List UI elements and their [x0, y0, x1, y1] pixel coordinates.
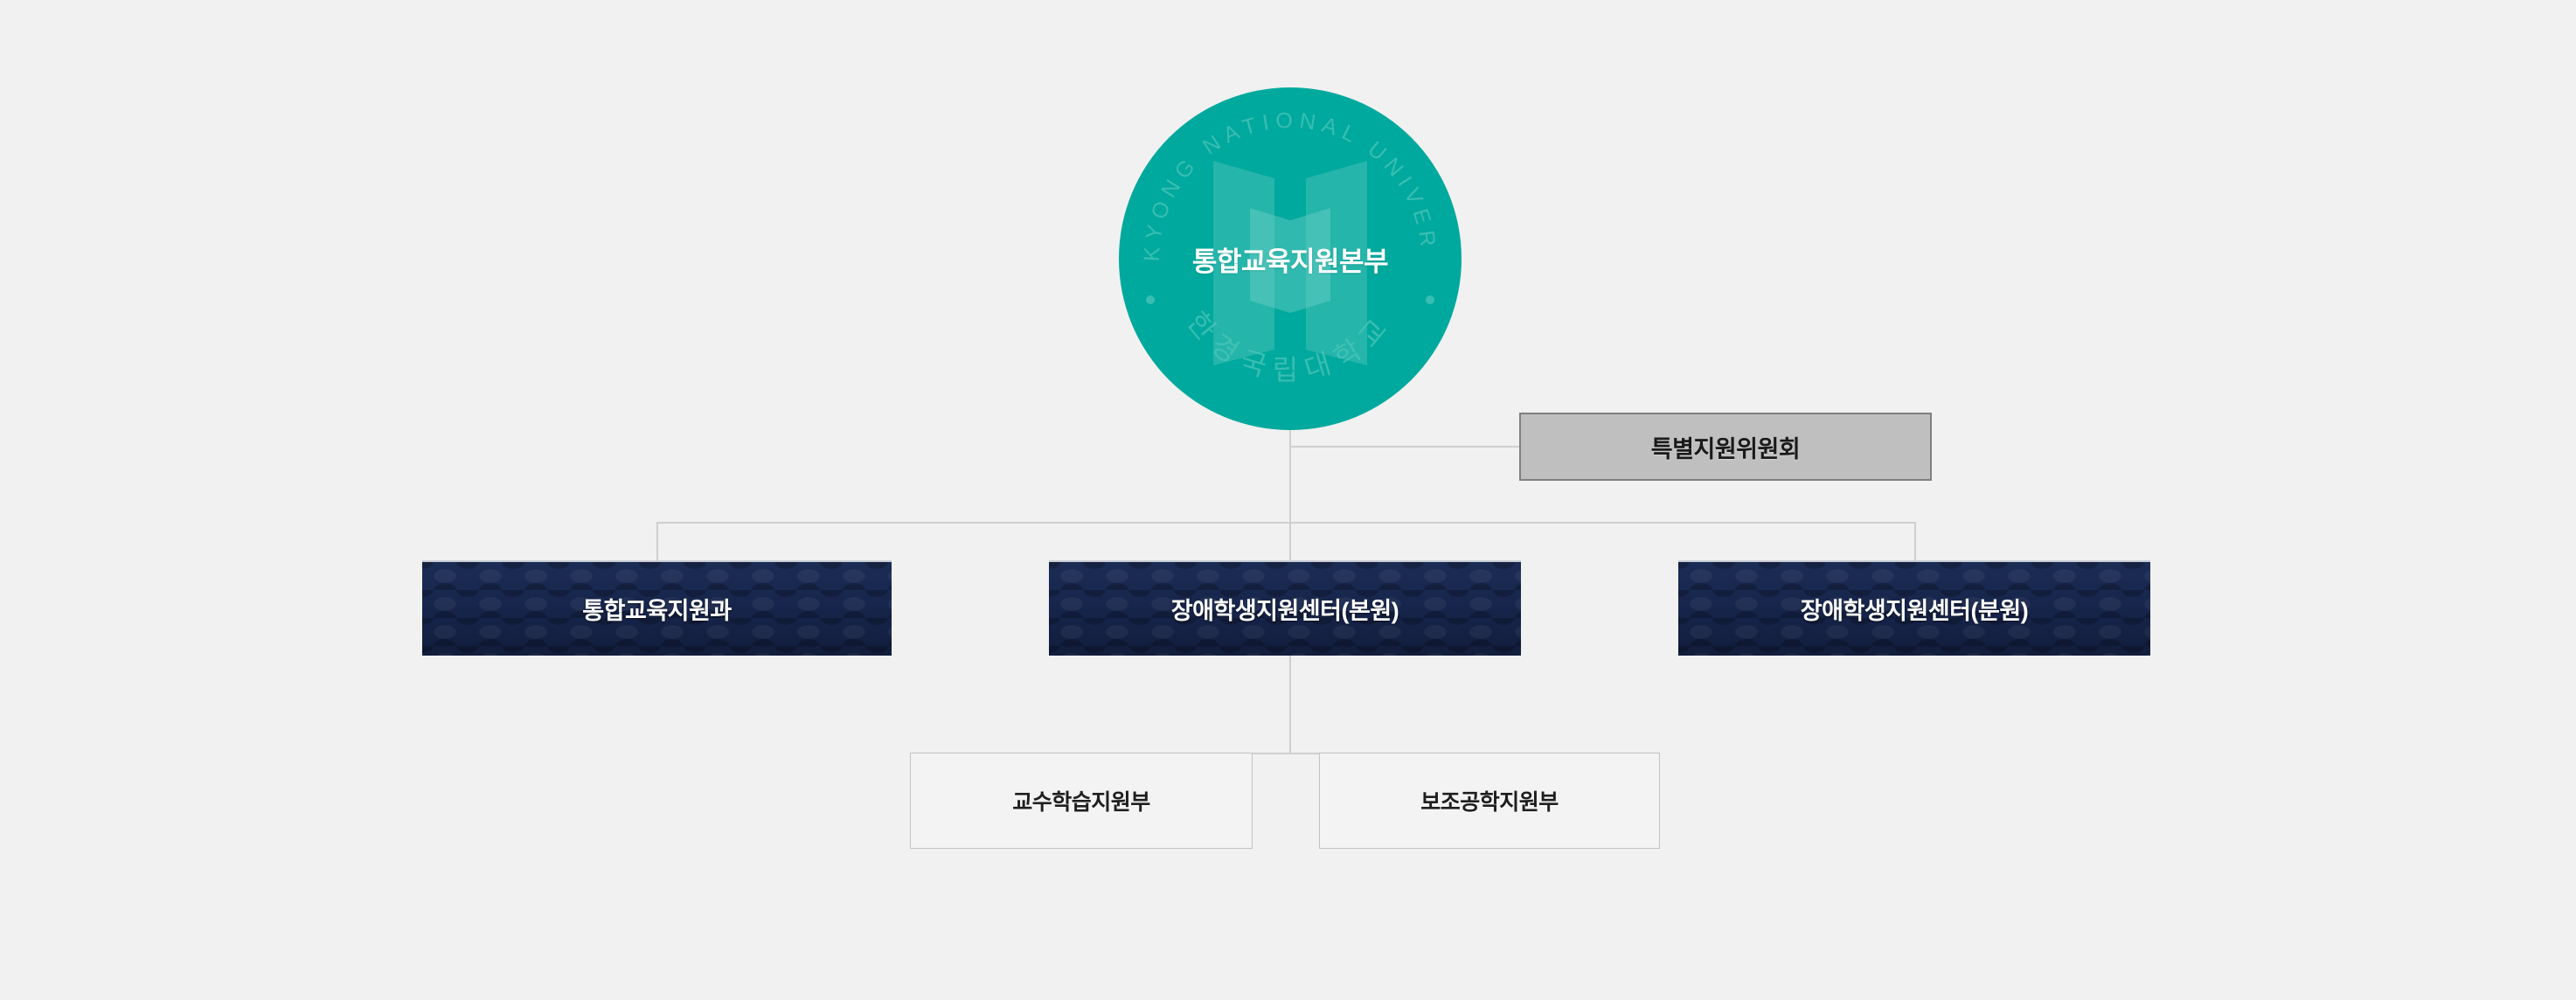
node-sub-department-1[interactable]: 교수학습지원부: [910, 753, 1253, 849]
connector-root-trunk-upper: [1289, 430, 1291, 483]
root-node-label: 통합교육지원본부: [1119, 87, 1462, 430]
node-department-1[interactable]: 통합교육지원과: [422, 560, 892, 656]
node-label: 보조공학지원부: [1420, 785, 1559, 816]
connector-department-bus: [656, 522, 1915, 524]
node-label: 교수학습지원부: [1012, 785, 1150, 816]
node-label: 장애학생지원센터(본원): [1171, 592, 1399, 626]
root-node-headquarters[interactable]: HANKYONG NATIONAL UNIVERSITY 한경국립대학교 통합교…: [1119, 87, 1462, 430]
connector-committee-branch: [1289, 446, 1521, 448]
connector-drop-department-1: [656, 522, 658, 562]
node-label: 장애학생지원센터(분원): [1801, 592, 2028, 626]
node-special-support-committee[interactable]: 특별지원위원회: [1519, 413, 1932, 481]
node-label: 특별지원위원회: [1651, 430, 1800, 464]
node-label: 통합교육지원과: [582, 592, 731, 626]
node-department-2[interactable]: 장애학생지원센터(본원): [1049, 560, 1521, 656]
node-sub-department-2[interactable]: 보조공학지원부: [1319, 753, 1660, 849]
organization-chart: HANKYONG NATIONAL UNIVERSITY 한경국립대학교 통합교…: [0, 0, 2576, 1000]
node-department-3[interactable]: 장애학생지원센터(분원): [1678, 560, 2150, 656]
connector-center-trunk: [1289, 656, 1291, 754]
connector-drop-department-3: [1914, 522, 1916, 562]
